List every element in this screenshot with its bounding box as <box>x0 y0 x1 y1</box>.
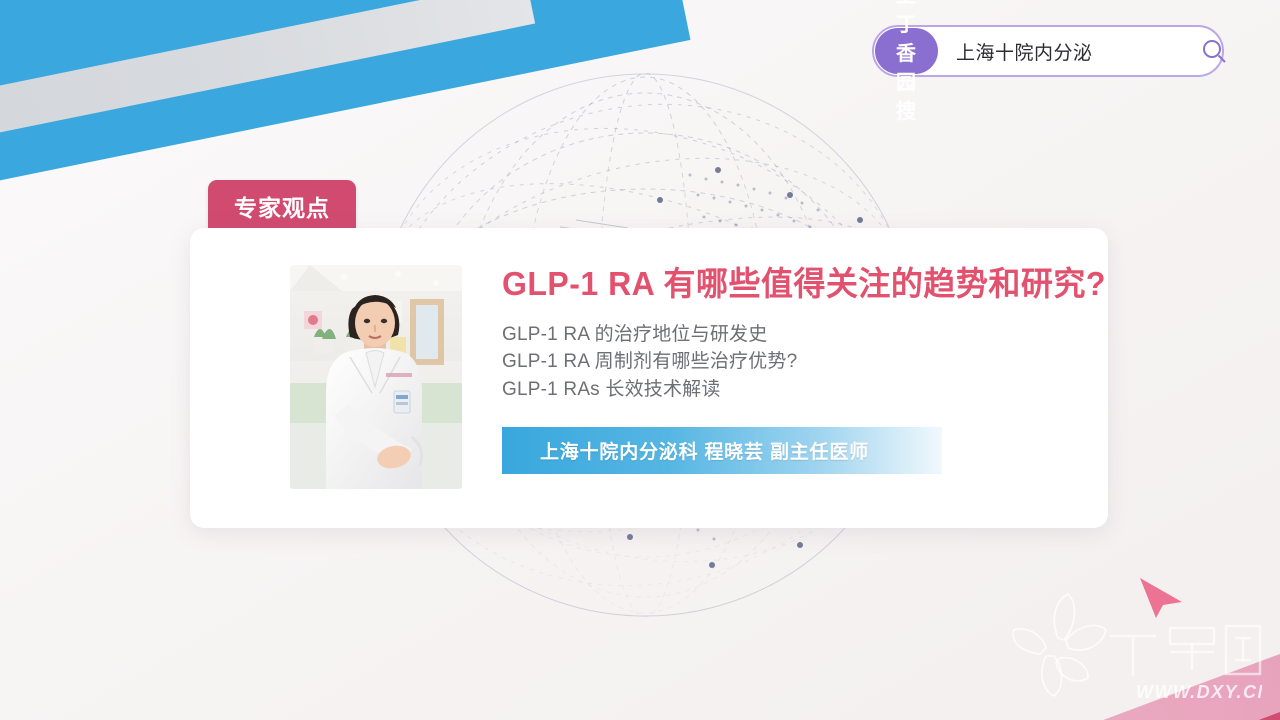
search-icon[interactable] <box>1201 38 1227 64</box>
search-input[interactable] <box>938 40 1201 62</box>
speaker-name-title: 上海十院内分泌科 程晓芸 副主任医师 <box>502 437 869 464</box>
search-scope-button[interactable]: 上丁香园搜 <box>875 28 938 74</box>
topic-item: GLP-1 RA 的治疗地位与研发史 <box>502 321 1125 348</box>
dxy-logo-watermark: WWW.DXY.CN <box>994 590 1262 708</box>
expert-badge-label: 专家观点 <box>234 189 330 223</box>
doctor-photo <box>290 265 462 489</box>
topic-list: GLP-1 RA 的治疗地位与研发史 GLP-1 RA 周制剂有哪些治疗优势? … <box>502 321 1125 403</box>
card-body: GLP-1 RA 有哪些值得关注的趋势和研究? GLP-1 RA 的治疗地位与研… <box>502 266 1125 474</box>
card-title: GLP-1 RA 有哪些值得关注的趋势和研究? <box>502 266 1106 303</box>
search-bar[interactable]: 上丁香园搜 <box>872 25 1224 77</box>
topic-item: GLP-1 RAs 长效技术解读 <box>502 376 1125 403</box>
expert-opinion-badge: 专家观点 <box>208 180 356 232</box>
slide-stage: WWW.DXY.CN 上丁香园搜 专家观点 <box>0 0 1280 720</box>
topic-item: GLP-1 RA 周制剂有哪些治疗优势? <box>502 348 1125 375</box>
speaker-bar: 上海十院内分泌科 程晓芸 副主任医师 <box>502 427 942 474</box>
dxy-url-text: WWW.DXY.CN <box>1136 682 1262 702</box>
expert-opinion-card: GLP-1 RA 有哪些值得关注的趋势和研究? GLP-1 RA 的治疗地位与研… <box>190 228 1108 528</box>
cursor-arrow-icon <box>1136 572 1188 620</box>
